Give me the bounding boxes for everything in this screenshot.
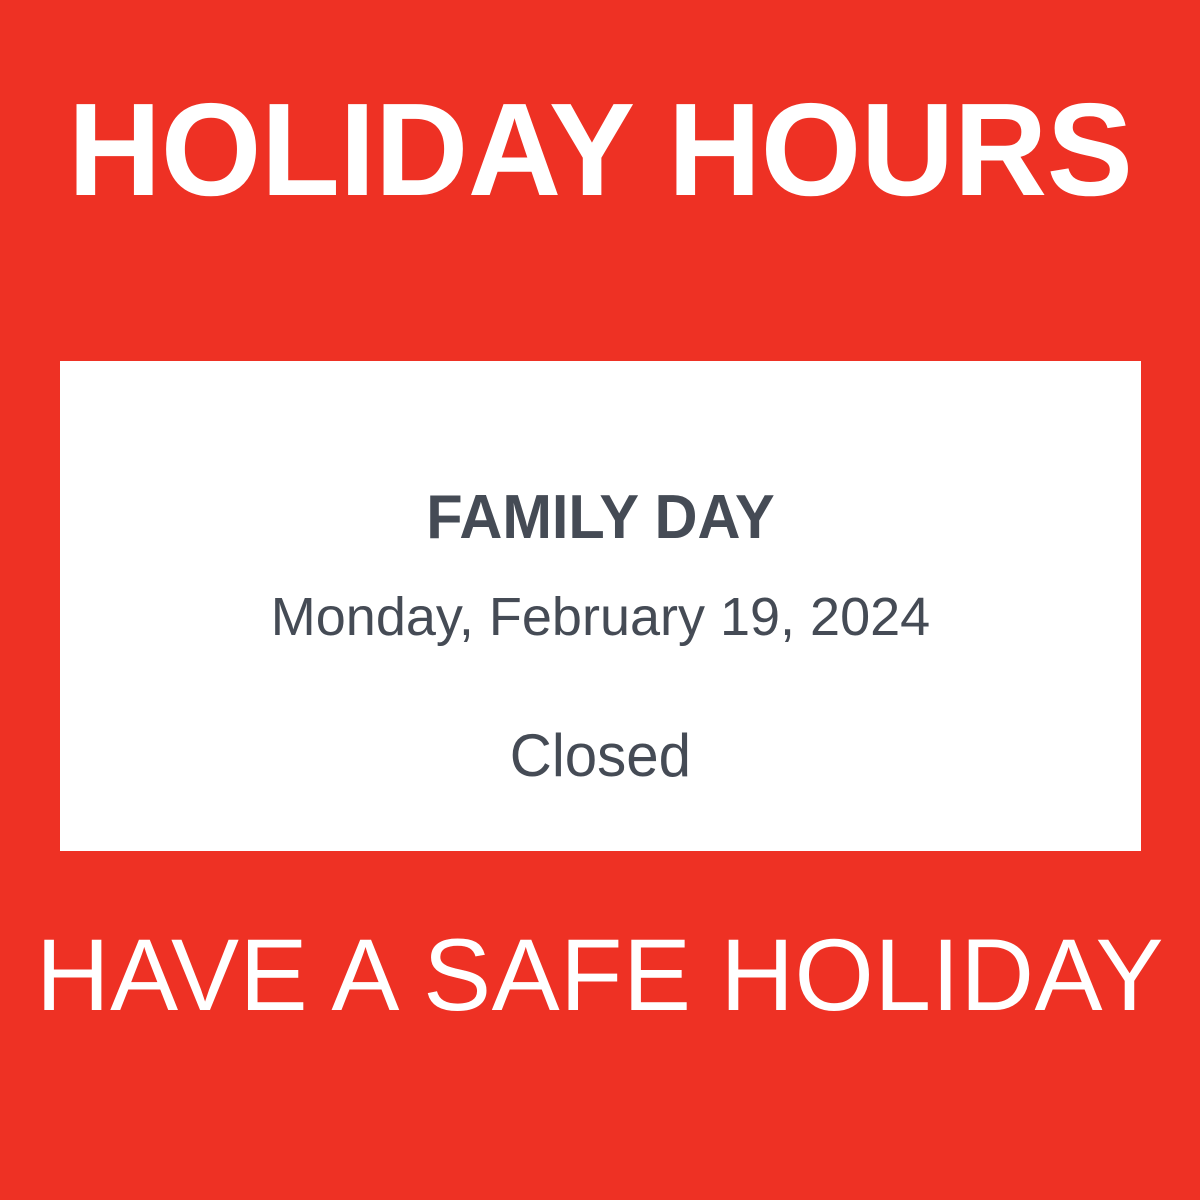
footer-banner: HAVE A SAFE HOLIDAY	[0, 890, 1200, 1060]
footer-message: HAVE A SAFE HOLIDAY	[36, 924, 1164, 1026]
headline-banner: HOLIDAY HOURS	[0, 0, 1200, 300]
holiday-name: FAMILY DAY	[426, 487, 774, 549]
page-title: HOLIDAY HOURS	[68, 84, 1133, 216]
holiday-notice-card: FAMILY DAY Monday, February 19, 2024 Clo…	[60, 361, 1141, 851]
holiday-date: Monday, February 19, 2024	[271, 590, 930, 644]
status-badge: Closed	[510, 726, 691, 786]
holiday-hours-sign: HOLIDAY HOURS FAMILY DAY Monday, Februar…	[0, 0, 1200, 1200]
